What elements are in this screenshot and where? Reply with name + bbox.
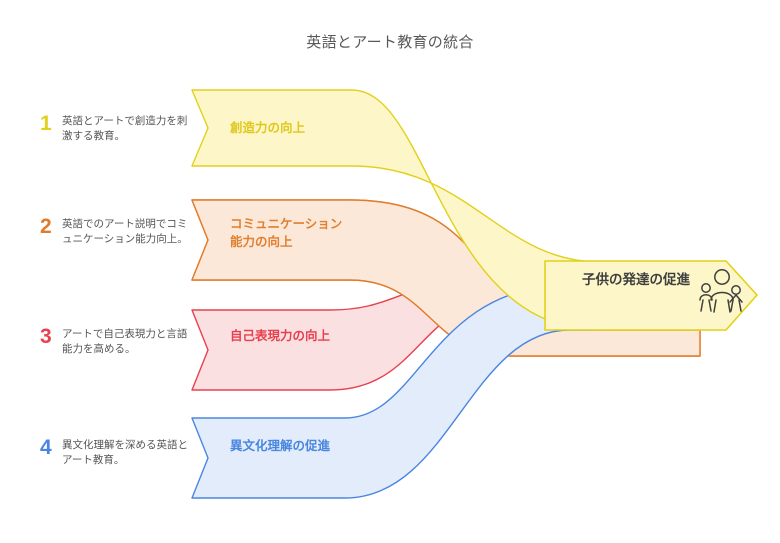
outcome-node-label: 子供の発達の促進 [568,270,690,290]
step-description-2: 英語でのアート説明でコミュニケーション能力向上。 [62,216,190,247]
step-number-2: 2 [40,216,62,237]
step-number-4: 4 [40,437,62,458]
step-description-3: アートで自己表現力と言語能力を高める。 [62,326,190,357]
step-row-2: 2 英語でのアート説明でコミュニケーション能力向上。 [40,216,190,247]
step-description-1: 英語とアートで創造力を刺激する教育。 [62,113,190,144]
step-row-4: 4 異文化理解を深める英語とアート教育。 [40,437,190,468]
step-row-3: 3 アートで自己表現力と言語能力を高める。 [40,326,190,357]
step-row-1: 1 英語とアートで創造力を刺激する教育。 [40,113,190,144]
diagram-canvas: 英語とアート教育の統合 1 英語とアートで創造力を刺激する教 [0,0,780,543]
ribbon-label-3: 自己表現力の向上 [230,327,348,345]
ribbon-label-1: 創造力の向上 [230,119,348,137]
step-description-4: 異文化理解を深める英語とアート教育。 [62,437,190,468]
step-number-3: 3 [40,326,62,347]
step-number-1: 1 [40,113,62,134]
ribbon-label-2: コミュニケーション能力の向上 [230,215,348,251]
ribbon-label-4: 異文化理解の促進 [230,437,348,455]
